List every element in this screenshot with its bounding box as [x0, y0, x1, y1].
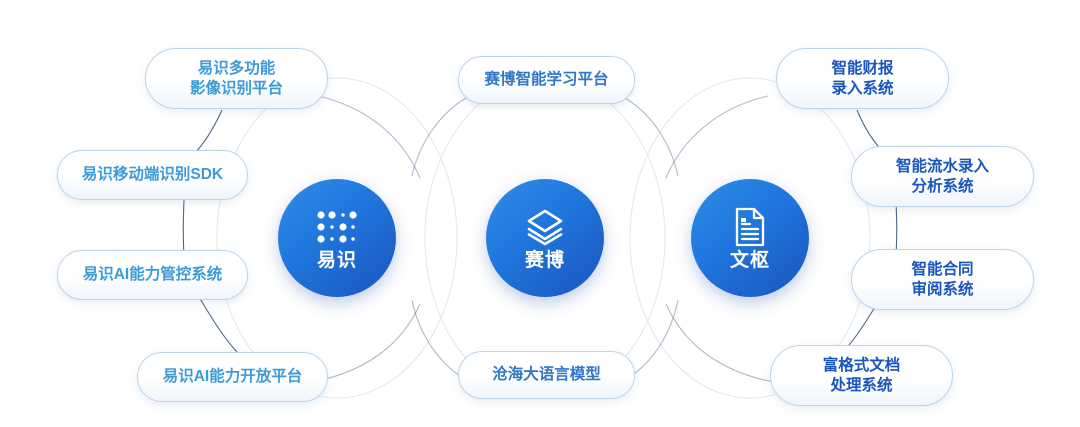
core-circle-saibo[interactable]: 赛博 [486, 179, 604, 297]
pill-rich-format-document-processing-system[interactable]: 富格式文档 处理系统 [770, 345, 953, 406]
core-label-wenshu: 文枢 [730, 251, 770, 270]
document-file-icon [729, 207, 771, 247]
pill-intelligent-transaction-entry-analysis-system[interactable]: 智能流水录入 分析系统 [851, 146, 1034, 207]
core-circle-yishi[interactable]: 易识 [278, 179, 396, 297]
core-circle-wenshu[interactable]: 文枢 [691, 179, 809, 297]
pill-yishi-ai-capability-open-platform[interactable]: 易识AI能力开放平台 [137, 352, 328, 402]
core-label-yishi: 易识 [317, 251, 357, 270]
core-label-saibo: 赛博 [525, 251, 565, 270]
pill-intelligent-financial-report-entry-system[interactable]: 智能财报 录入系统 [776, 48, 949, 109]
pill-saibo-intelligent-learning-platform[interactable]: 赛博智能学习平台 [458, 56, 635, 104]
layers-stack-icon [524, 207, 566, 247]
pill-yishi-multifunction-image-platform[interactable]: 易识多功能 影像识别平台 [145, 48, 328, 109]
pill-yishi-mobile-sdk[interactable]: 易识移动端识别SDK [57, 150, 248, 200]
pill-canghai-large-language-model[interactable]: 沧海大语言模型 [458, 351, 635, 399]
pill-intelligent-contract-review-system[interactable]: 智能合同 审阅系统 [851, 249, 1034, 310]
pill-yishi-ai-capability-control-system[interactable]: 易识AI能力管控系统 [57, 250, 248, 300]
braille-dots-icon [316, 207, 358, 247]
diagram-canvas: 易识 赛博 [0, 0, 1080, 427]
